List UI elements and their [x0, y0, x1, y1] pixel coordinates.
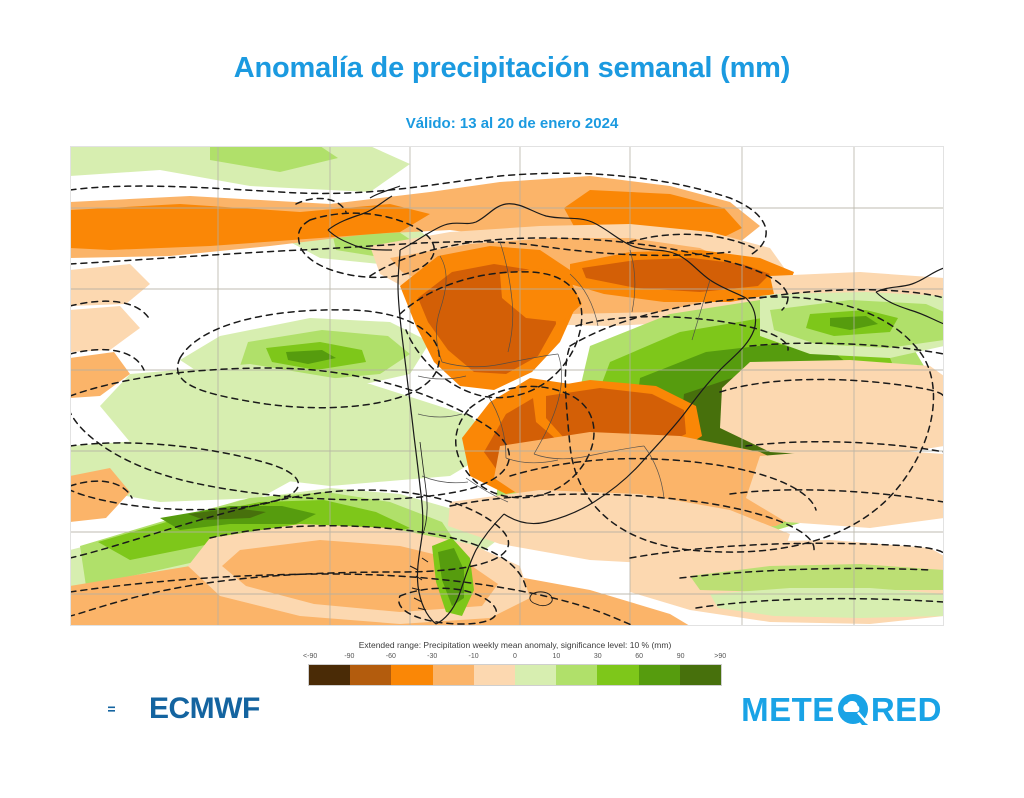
- legend-colorbar: [308, 664, 722, 686]
- ecmwf-globe-icon: [108, 696, 144, 722]
- legend-caption: Extended range: Precipitation weekly mea…: [308, 640, 722, 650]
- legend: Extended range: Precipitation weekly mea…: [308, 640, 722, 686]
- legend-swatch-1: [350, 665, 391, 685]
- ecmwf-logo: ECMWF: [108, 694, 260, 724]
- legend-swatch-6: [556, 665, 597, 685]
- legend-tick-3: -30: [427, 653, 437, 660]
- legend-tick-0: <-90: [303, 653, 317, 660]
- legend-swatch-5: [515, 665, 556, 685]
- legend-swatch-4: [474, 665, 515, 685]
- meteored-wordmark-right: RED: [871, 693, 942, 726]
- legend-tick-4: -10: [469, 653, 479, 660]
- legend-tick-8: 60: [635, 653, 643, 660]
- legend-swatch-0: [309, 665, 350, 685]
- legend-swatch-9: [680, 665, 721, 685]
- meteored-logo: METE RED: [741, 692, 942, 726]
- legend-tick-9: 90: [677, 653, 685, 660]
- legend-tick-1: -90: [344, 653, 354, 660]
- legend-tick-labels: <-90-90-60-30-10010306090>90: [308, 653, 722, 664]
- legend-swatch-3: [433, 665, 474, 685]
- legend-tick-6: 10: [552, 653, 560, 660]
- ecmwf-wordmark: ECMWF: [149, 694, 260, 724]
- meteored-wordmark-left: METE: [741, 693, 835, 726]
- meteored-cloud-icon: [836, 692, 870, 726]
- legend-tick-2: -60: [386, 653, 396, 660]
- page-title: Anomalía de precipitación semanal (mm): [0, 52, 1024, 85]
- legend-swatch-7: [597, 665, 638, 685]
- legend-swatch-8: [639, 665, 680, 685]
- legend-swatch-2: [391, 665, 432, 685]
- validity-subtitle: Válido: 13 al 20 de enero 2024: [0, 115, 1024, 132]
- legend-tick-10: >90: [714, 653, 726, 660]
- legend-tick-5: 0: [513, 653, 517, 660]
- anomaly-map: [70, 146, 944, 626]
- map-canvas: [70, 146, 944, 626]
- legend-tick-7: 30: [594, 653, 602, 660]
